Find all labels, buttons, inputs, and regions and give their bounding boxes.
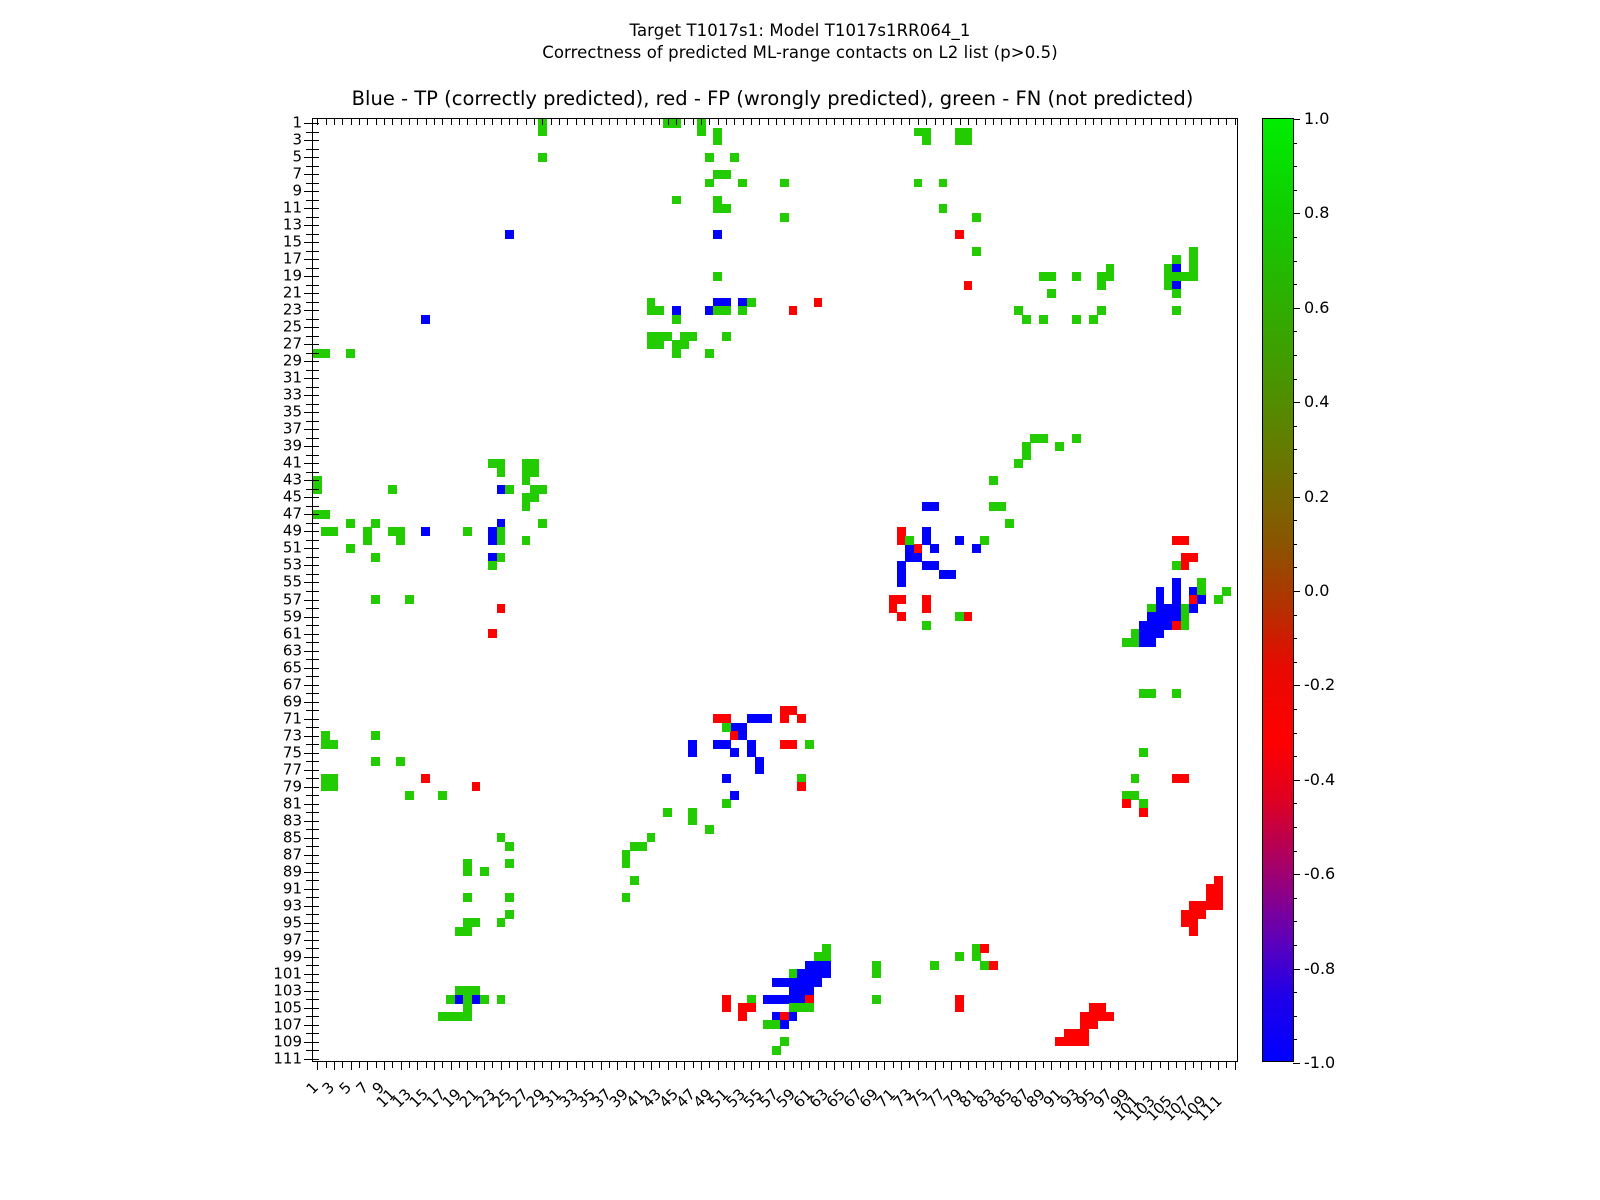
heatmap-cell (1147, 689, 1156, 698)
x-axis-tick (1193, 1061, 1194, 1068)
x-axis-tick (843, 1061, 844, 1068)
x-axis-tick (367, 1061, 368, 1070)
colorbar-minor-tick (1293, 308, 1297, 309)
heatmap-cell (321, 510, 330, 519)
x-axis-tick (1168, 1061, 1169, 1070)
y-axis-inner-tick (313, 906, 319, 907)
y-axis-tick (306, 608, 313, 609)
y-axis-inner-tick (313, 200, 319, 201)
heatmap-cell (730, 153, 739, 162)
x-axis-top-tick (609, 119, 610, 125)
x-axis-top-tick (876, 119, 877, 125)
x-axis-tick (484, 1061, 485, 1070)
colorbar-minor-tick (1293, 520, 1297, 521)
y-axis-tick (304, 668, 313, 669)
heatmap-cell (505, 893, 514, 902)
heatmap-cell (405, 791, 414, 800)
y-axis-inner-tick (313, 387, 319, 388)
x-axis-tick (1143, 1061, 1144, 1068)
y-axis-inner-tick (313, 540, 319, 541)
heatmap-cell (472, 918, 481, 927)
x-axis-top-tick (926, 119, 927, 125)
colorbar-minor-tick (1293, 261, 1297, 262)
x-axis-top-tick (1060, 119, 1061, 125)
y-axis-inner-tick (313, 829, 319, 830)
x-axis-top-tick (726, 119, 727, 125)
y-axis-tick (304, 378, 313, 379)
x-axis-tick-label: 7 (354, 1080, 371, 1097)
x-axis-top-tick (993, 119, 994, 125)
y-axis-tick (304, 770, 313, 771)
y-axis-tick (306, 574, 313, 575)
x-axis-tick (701, 1061, 702, 1070)
heatmap-cell (738, 179, 747, 188)
heatmap-cell (972, 247, 981, 256)
y-axis-inner-tick (313, 242, 319, 243)
y-axis-inner-tick (313, 259, 319, 260)
y-axis-tick (306, 540, 313, 541)
colorbar-minor-tick (1293, 119, 1297, 120)
x-axis-tick (334, 1061, 335, 1070)
heatmap-cell (1172, 774, 1181, 783)
colorbar-minor-tick (1293, 379, 1297, 380)
y-axis-inner-tick (313, 659, 319, 660)
y-axis-inner-tick (313, 463, 319, 464)
x-axis-tick (1126, 1061, 1127, 1068)
heatmap-cell (1005, 519, 1014, 528)
heatmap-cell (697, 128, 706, 137)
heatmap-cell (1097, 281, 1106, 290)
x-axis-tick (751, 1061, 752, 1070)
heatmap-cell (797, 714, 806, 723)
y-axis-tick (304, 991, 313, 992)
x-axis-tick (884, 1061, 885, 1070)
x-axis-tick (576, 1061, 577, 1068)
x-axis-top-tick (484, 119, 485, 125)
colorbar-tick-label: -1.0 (1304, 1055, 1335, 1071)
colorbar-minor-tick (1293, 284, 1297, 285)
y-axis-tick (306, 812, 313, 813)
heatmap-cell (330, 740, 339, 749)
heatmap-cell (705, 153, 714, 162)
x-axis-top-tick (509, 119, 510, 125)
x-axis-tick (876, 1061, 877, 1068)
y-axis-tick-label: 31 (283, 371, 302, 386)
heatmap-cell (705, 825, 714, 834)
x-axis-top-tick (818, 119, 819, 125)
y-axis-tick (306, 710, 313, 711)
x-axis-top-tick (701, 119, 702, 125)
y-axis-tick (304, 361, 313, 362)
y-axis-inner-tick (313, 429, 319, 430)
heatmap-cell (1139, 748, 1148, 757)
x-axis-top-tick (542, 119, 543, 125)
y-axis-tick-label: 69 (283, 694, 302, 709)
y-axis-tick (304, 906, 313, 907)
y-axis-tick (304, 804, 313, 805)
y-axis-inner-tick (313, 923, 319, 924)
x-axis-top-tick (326, 119, 327, 125)
y-axis-inner-tick (313, 421, 319, 422)
x-axis-top-tick (376, 119, 377, 125)
y-axis-tick (306, 863, 313, 864)
y-axis-tick-label: 51 (283, 541, 302, 556)
x-axis-top-tick (1093, 119, 1094, 125)
y-axis-tick (304, 293, 313, 294)
x-axis-top-tick (668, 119, 669, 125)
colorbar-minor-tick (1293, 143, 1297, 144)
heatmap-cell (680, 340, 689, 349)
heatmap-cell (797, 782, 806, 791)
x-axis-top-tick (634, 119, 635, 125)
heatmap-cell (955, 1003, 964, 1012)
heatmap-cell (1039, 434, 1048, 443)
heatmap-cell (789, 740, 798, 749)
y-axis-tick-label: 49 (283, 524, 302, 539)
heatmap-cell (722, 332, 731, 341)
heatmap-cell (713, 272, 722, 281)
y-axis-tick (304, 702, 313, 703)
y-axis-tick-label: 61 (283, 626, 302, 641)
x-axis-top-tick (768, 119, 769, 125)
x-axis-top-tick (384, 119, 385, 125)
y-axis-inner-tick (313, 1059, 319, 1060)
y-axis-tick (304, 208, 313, 209)
y-axis-inner-tick (313, 651, 319, 652)
y-axis-inner-tick (313, 472, 319, 473)
y-axis-inner-tick (313, 795, 319, 796)
heatmap-cell (713, 230, 722, 239)
y-axis-tick-label: 89 (283, 864, 302, 879)
heatmap-cell (497, 604, 506, 613)
y-axis-inner-tick (313, 293, 319, 294)
y-axis-inner-tick (313, 336, 319, 337)
x-axis-tick (734, 1061, 735, 1070)
y-axis-tick-label: 71 (283, 711, 302, 726)
y-axis-inner-tick (313, 889, 319, 890)
y-axis-inner-tick (313, 736, 319, 737)
x-axis-top-tick (893, 119, 894, 125)
heatmap-cell (1172, 536, 1181, 545)
y-axis-inner-tick (313, 531, 319, 532)
x-axis-tick (859, 1061, 860, 1068)
y-axis-tick (304, 719, 313, 720)
y-axis-inner-tick (313, 710, 319, 711)
heatmap-cell (371, 595, 380, 604)
y-axis-inner-tick (313, 251, 319, 252)
y-axis-tick (306, 914, 313, 915)
x-axis-top-tick (1176, 119, 1177, 125)
y-axis-inner-tick (313, 582, 319, 583)
x-axis-top-tick (392, 119, 393, 125)
heatmap-cell (688, 816, 697, 825)
x-axis-top-tick (734, 119, 735, 125)
y-axis-tick (304, 821, 313, 822)
y-axis-inner-tick (313, 668, 319, 669)
y-axis-tick-label: 67 (283, 677, 302, 692)
colorbar-minor-tick (1293, 473, 1297, 474)
x-axis-tick (976, 1061, 977, 1068)
y-axis-tick (304, 174, 313, 175)
y-axis-inner-tick (313, 565, 319, 566)
y-axis-tick-label: 77 (283, 762, 302, 777)
heatmap-cell (1055, 442, 1064, 451)
y-axis-inner-tick (313, 523, 319, 524)
x-axis-top-tick (1068, 119, 1069, 125)
y-axis-inner-tick (313, 897, 319, 898)
colorbar-tick-label: 0.2 (1304, 489, 1329, 505)
y-axis-tick-label: 39 (283, 439, 302, 454)
heatmap-cell (463, 527, 472, 536)
x-axis-tick (1035, 1061, 1036, 1070)
y-axis-tick (304, 617, 313, 618)
colorbar-minor-tick (1293, 591, 1297, 592)
heatmap-cell (905, 536, 914, 545)
x-axis-tick (935, 1061, 936, 1070)
heatmap-cell (396, 536, 405, 545)
y-axis-tick (304, 242, 313, 243)
y-axis-inner-tick (313, 361, 319, 362)
y-axis-tick-label: 25 (283, 320, 302, 335)
x-axis-top-tick (409, 119, 410, 125)
y-axis-tick (306, 693, 313, 694)
x-axis-tick (1026, 1061, 1027, 1068)
heatmap-cell (747, 298, 756, 307)
heatmap-cell (713, 306, 722, 315)
heatmap-cell (1172, 306, 1181, 315)
y-axis-tick (306, 472, 313, 473)
x-axis-top-tick (943, 119, 944, 125)
colorbar-minor-tick (1293, 426, 1297, 427)
heatmap-cell (980, 536, 989, 545)
x-axis-tick (926, 1061, 927, 1068)
heatmap-cell (688, 740, 697, 749)
chart-legend-subtitle: Blue - TP (correctly predicted), red - F… (0, 87, 1545, 110)
heatmap-cell (371, 731, 380, 740)
x-axis-top-tick (342, 119, 343, 125)
y-axis-inner-tick (313, 1033, 319, 1034)
heatmap-cell (964, 281, 973, 290)
heatmap-cell (1072, 315, 1081, 324)
heatmap-cell (805, 1003, 814, 1012)
heatmap-cell (1214, 901, 1223, 910)
heatmap-cell (421, 774, 430, 783)
y-axis-tick-label: 87 (283, 847, 302, 862)
y-axis-tick-label: 85 (283, 830, 302, 845)
x-axis-tick (351, 1061, 352, 1070)
y-axis-tick (306, 387, 313, 388)
heatmap-cell (505, 230, 514, 239)
colorbar-minor-tick (1293, 166, 1297, 167)
y-axis-inner-tick (313, 455, 319, 456)
x-axis-tick (1068, 1061, 1069, 1070)
x-axis-tick (1060, 1061, 1061, 1068)
y-axis-inner-tick (313, 157, 319, 158)
x-axis-tick (985, 1061, 986, 1070)
x-axis-top-tick (693, 119, 694, 125)
y-axis-tick (304, 634, 313, 635)
y-axis-tick (306, 625, 313, 626)
heatmap-cell (1172, 689, 1181, 698)
heatmap-cell (872, 961, 881, 970)
x-axis-tick (693, 1061, 694, 1068)
x-axis-top-tick (1101, 119, 1102, 125)
y-axis-inner-tick (313, 1008, 319, 1009)
x-axis-top-tick (751, 119, 752, 125)
y-axis-inner-tick (313, 880, 319, 881)
heatmap-cell (780, 1037, 789, 1046)
x-axis-top-tick (826, 119, 827, 125)
x-axis-top-tick (401, 119, 402, 125)
colorbar-minor-tick (1293, 497, 1297, 498)
heatmap-cell (930, 544, 939, 553)
y-axis-tick-label: 55 (283, 575, 302, 590)
x-axis-top-tick (1210, 119, 1211, 125)
x-axis-top-tick (868, 119, 869, 125)
heatmap-cell (939, 204, 948, 213)
y-axis-inner-tick (313, 634, 319, 635)
y-axis-tick (304, 310, 313, 311)
colorbar-minor-tick (1293, 851, 1297, 852)
x-axis-tick (776, 1061, 777, 1068)
heatmap-cell (522, 502, 531, 511)
heatmap-cell (780, 714, 789, 723)
heatmap-cell (497, 918, 506, 927)
y-axis-inner-tick (313, 370, 319, 371)
y-axis-tick (306, 200, 313, 201)
heatmap-cell (955, 536, 964, 545)
heatmap-cell (446, 1012, 455, 1021)
y-axis-tick-label: 63 (283, 643, 302, 658)
chart-title-line-1: Target T1017s1: Model T1017s1RR064_1 (0, 20, 1600, 42)
heatmap-cell (964, 136, 973, 145)
heatmap-cell (1189, 272, 1198, 281)
x-axis-tick (759, 1061, 760, 1068)
x-axis-tick (1093, 1061, 1094, 1068)
heatmap-cell (897, 561, 906, 570)
y-axis-tick (306, 999, 313, 1000)
heatmap-cell (922, 604, 931, 613)
heatmap-cell (330, 782, 339, 791)
y-axis-inner-tick (313, 974, 319, 975)
heatmap-cell (722, 799, 731, 808)
x-axis-tick (426, 1061, 427, 1068)
y-axis-tick-label: 35 (283, 405, 302, 420)
x-axis-top-tick (1168, 119, 1169, 125)
heatmap-cell (897, 578, 906, 587)
x-axis-top-tick (1010, 119, 1011, 125)
x-axis-top-tick (534, 119, 535, 125)
x-axis-top-tick (1201, 119, 1202, 125)
y-axis-tick-label: 23 (283, 303, 302, 318)
y-axis-inner-tick (313, 208, 319, 209)
y-axis-inner-tick (313, 225, 319, 226)
x-axis-top-tick (1043, 119, 1044, 125)
y-axis-tick-label: 107 (273, 1017, 302, 1032)
y-axis-tick (304, 514, 313, 515)
y-axis-tick (306, 438, 313, 439)
x-axis-tick (1201, 1061, 1202, 1070)
y-axis-tick (304, 327, 313, 328)
y-axis-tick (304, 1025, 313, 1026)
y-axis-inner-tick (313, 702, 319, 703)
colorbar-minor-tick (1293, 615, 1297, 616)
heatmap-cell (522, 536, 531, 545)
x-axis-top-tick (367, 119, 368, 125)
x-axis-top-tick (793, 119, 794, 125)
y-axis-inner-tick (313, 132, 319, 133)
heatmap-cell (463, 927, 472, 936)
y-axis-tick (306, 489, 313, 490)
x-axis-top-tick (643, 119, 644, 125)
heatmap-cell (1089, 1020, 1098, 1029)
x-axis-tick (401, 1061, 402, 1070)
heatmap-cell (472, 782, 481, 791)
y-axis-tick-label: 29 (283, 354, 302, 369)
x-axis-tick (676, 1061, 677, 1068)
y-axis-tick-label: 47 (283, 507, 302, 522)
heatmap-cell (497, 527, 506, 536)
heatmap-cell (1222, 587, 1231, 596)
heatmap-cell (1181, 536, 1190, 545)
heatmap-cell (722, 740, 731, 749)
x-axis-tick (1101, 1061, 1102, 1070)
y-axis-inner-tick (313, 489, 319, 490)
x-axis-tick (960, 1061, 961, 1068)
y-axis-tick-label: 65 (283, 660, 302, 675)
x-axis-top-tick (1118, 119, 1119, 125)
y-axis-tick-label: 5 (292, 150, 302, 165)
colorbar-minor-tick (1293, 1039, 1297, 1040)
y-axis-tick (306, 591, 313, 592)
y-axis-tick (306, 795, 313, 796)
heatmap-cell (822, 969, 831, 978)
contact-map-plot-area: 1357911131517192123252729313335373941434… (312, 118, 1238, 1062)
x-axis-top-tick (684, 119, 685, 125)
heatmap-cell (930, 561, 939, 570)
y-axis-inner-tick (313, 982, 319, 983)
heatmap-cell (722, 995, 731, 1004)
x-axis-tick (409, 1061, 410, 1068)
heatmap-cell (396, 757, 405, 766)
x-axis-tick (376, 1061, 377, 1068)
y-axis-inner-tick (313, 931, 319, 932)
colorbar-minor-tick (1293, 544, 1297, 545)
heatmap-cell (1156, 595, 1165, 604)
y-axis-tick (306, 285, 313, 286)
x-axis-top-tick (1126, 119, 1127, 125)
heatmap-cell (497, 536, 506, 545)
colorbar-minor-tick (1293, 567, 1297, 568)
heatmap-cell (972, 213, 981, 222)
y-axis-tick (306, 523, 313, 524)
heatmap-cell (363, 536, 372, 545)
y-axis-tick-label: 91 (283, 881, 302, 896)
heatmap-cell (1047, 272, 1056, 281)
heatmap-cell (421, 527, 430, 536)
y-axis-tick (304, 1008, 313, 1009)
y-axis-inner-tick (313, 166, 319, 167)
y-axis-tick (304, 463, 313, 464)
x-axis-tick (526, 1061, 527, 1068)
colorbar-minor-tick (1293, 190, 1297, 191)
y-axis-inner-tick (313, 174, 319, 175)
x-axis-top-tick (843, 119, 844, 125)
y-axis-tick-label: 95 (283, 915, 302, 930)
y-axis-inner-tick (313, 217, 319, 218)
heatmap-cell (1189, 255, 1198, 264)
x-axis-top-tick (960, 119, 961, 125)
